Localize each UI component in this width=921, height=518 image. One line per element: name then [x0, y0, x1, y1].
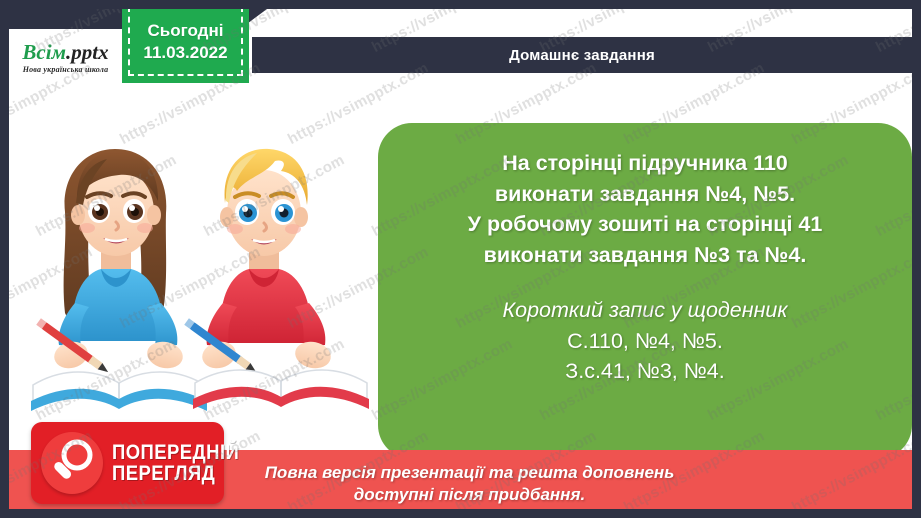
date-badge-value: 11.03.2022: [143, 44, 227, 62]
watermark-text: https://vsimpptx.com: [0, 151, 11, 240]
preview-badge-line-2: ПЕРЕГЛЯД: [112, 463, 239, 484]
assignment-panel: На сторінці підручника 110 виконати завд…: [378, 123, 912, 459]
girl-figure: [36, 149, 185, 375]
preview-badge: ПОПЕРЕДНІЙ ПЕРЕГЛЯД: [31, 422, 224, 504]
magnifier-icon: [41, 432, 103, 494]
brand-logo: Всім.pptx Нова українська школа: [0, 29, 131, 86]
slide-root: Всім.pptx Нова українська школа Сьогодні…: [0, 0, 921, 518]
logo-brand-dark: .pptx: [66, 40, 109, 64]
assignment-line-3: У робочому зошиті на сторінці 41: [468, 209, 823, 240]
slide-title-bar: Домашнє завдання: [252, 37, 912, 73]
students-illustration: [23, 127, 375, 427]
preview-badge-text: ПОПЕРЕДНІЙ ПЕРЕГЛЯД: [112, 442, 257, 484]
watermark-text: https://vsimpptx.com: [0, 335, 11, 424]
logo-tagline: Нова українська школа: [23, 65, 109, 74]
logo-brand-green: Всім: [22, 40, 66, 64]
open-book-right: [193, 370, 369, 409]
open-book-left: [31, 372, 207, 411]
assignment-line-1: На сторінці підручника 110: [502, 148, 788, 179]
assignment-line-2: виконати завдання №4, №5.: [495, 179, 795, 210]
bottom-notice-line-1: Повна версія презентації та решта доповн…: [265, 462, 675, 484]
preview-badge-line-1: ПОПЕРЕДНІЙ: [112, 442, 239, 463]
assignment-line-4: виконати завдання №3 та №4.: [484, 240, 807, 271]
date-badge: Сьогодні 11.03.2022: [122, 0, 249, 83]
note-line-1: Короткий запис у щоденник: [502, 295, 787, 326]
bottom-notice-line-2: доступні після придбання.: [354, 484, 585, 506]
note-line-3: З.с.41, №3, №4.: [565, 356, 725, 387]
boy-figure: [184, 149, 333, 375]
note-line-2: С.110, №4, №5.: [567, 326, 723, 357]
logo-wordmark: Всім.pptx: [22, 42, 108, 63]
page-title: Домашнє завдання: [509, 47, 655, 64]
date-badge-label: Сьогодні: [148, 22, 224, 40]
